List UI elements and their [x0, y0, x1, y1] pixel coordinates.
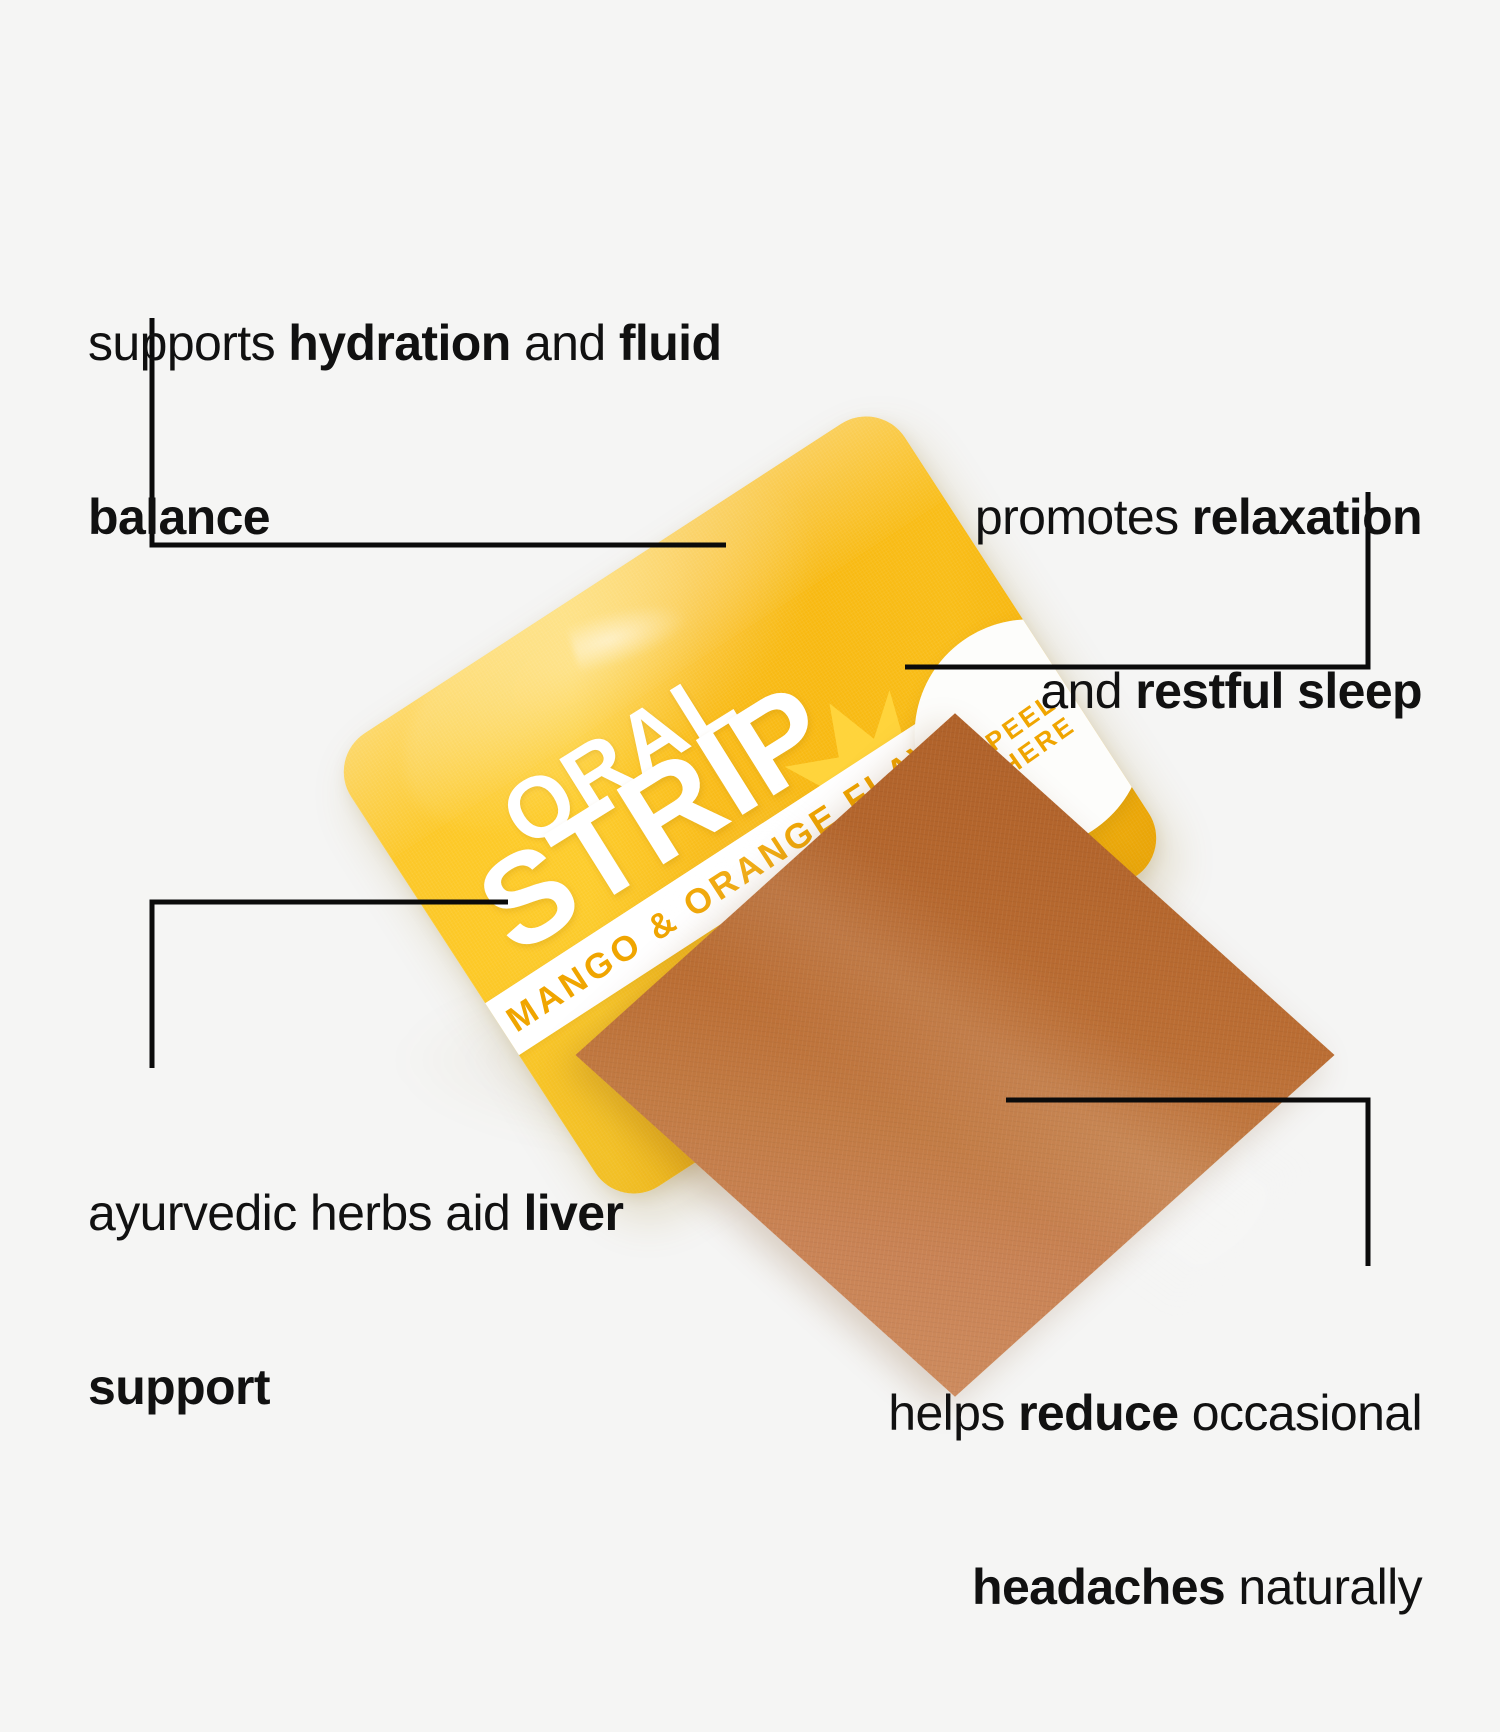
callout-hydration: supports hydration and fluid balance [88, 198, 848, 662]
infographic-canvas: ORAL STRIP MANGO & ORANGE FLAV PEEL HERE [0, 0, 1500, 1500]
callout-hydration-line-2: balance [88, 488, 848, 546]
callout-headache: helps reduce occasional headaches natura… [742, 1268, 1422, 1732]
callout-hydration-line-1: supports hydration and fluid [88, 314, 848, 372]
callout-sleep-line-1: promotes relaxation [802, 488, 1422, 546]
callout-liver-line-2: support [88, 1358, 788, 1416]
callout-headache-line-2: headaches naturally [742, 1558, 1422, 1616]
callout-sleep-line-2: and restful sleep [802, 662, 1422, 720]
callout-liver-line-1: ayurvedic herbs aid liver [88, 1184, 788, 1242]
callout-sleep: promotes relaxation and restful sleep [802, 372, 1422, 836]
callout-liver: ayurvedic herbs aid liver support [88, 1068, 788, 1532]
callout-headache-line-1: helps reduce occasional [742, 1384, 1422, 1442]
